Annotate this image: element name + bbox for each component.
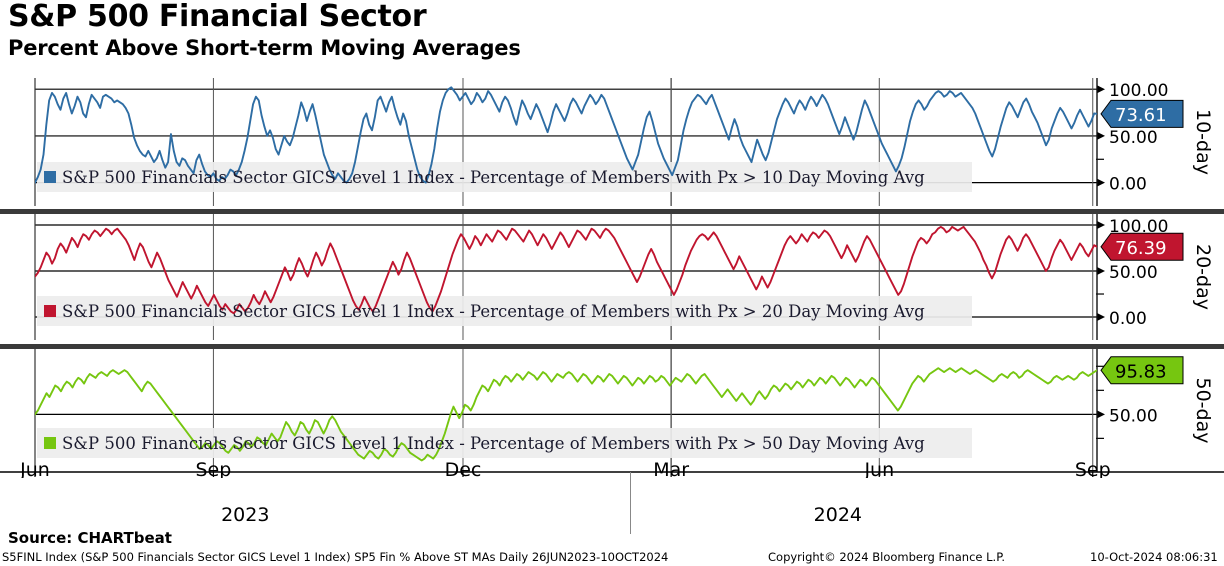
- axis-arrow-20-day-100: [1097, 221, 1105, 229]
- value-badge-text-50-day: 95.83: [1115, 361, 1167, 382]
- panel-50-day: S&P 500 Financials Sector GICS Level 1 I…: [35, 349, 1214, 472]
- percent-above-ma-chart: S&P 500 Financials Sector GICS Level 1 I…: [0, 76, 1224, 478]
- ytick-label-20-day-0: 0.00: [1109, 309, 1147, 329]
- panel-20-day: S&P 500 Financials Sector GICS Level 1 I…: [35, 214, 1214, 340]
- legend-marker-50-day: [44, 437, 56, 449]
- ytick-label-10-day-0: 0.00: [1109, 175, 1147, 195]
- panel-side-label-20-day: 20-day: [1192, 244, 1214, 310]
- source-label: Source: CHARTbeat: [8, 529, 172, 547]
- ytick-label-10-day-100: 100.00: [1109, 81, 1168, 101]
- value-badge-text-20-day: 76.39: [1115, 238, 1167, 259]
- chart-area: S&P 500 Financials Sector GICS Level 1 I…: [0, 76, 1224, 478]
- legend-label-10-day: S&P 500 Financials Sector GICS Level 1 I…: [62, 168, 925, 187]
- panel-side-label-10-day: 10-day: [1192, 109, 1214, 175]
- panel-separator-1: [0, 209, 1224, 214]
- panel-separator-2: [0, 344, 1224, 349]
- value-badge-text-10-day: 73.61: [1115, 105, 1167, 126]
- header: S&P 500 Financial Sector Percent Above S…: [8, 0, 521, 61]
- ytick-label-10-day-50: 50.00: [1109, 128, 1158, 148]
- axis-arrow-10-day-50: [1097, 132, 1105, 140]
- panel-10-day: S&P 500 Financials Sector GICS Level 1 I…: [35, 78, 1214, 206]
- page-subtitle: Percent Above Short-term Moving Averages: [8, 36, 521, 61]
- chart-page: S&P 500 Financial Sector Percent Above S…: [0, 0, 1224, 566]
- legend-label-20-day: S&P 500 Financials Sector GICS Level 1 I…: [62, 302, 925, 321]
- ytick-label-50-day-50: 50.00: [1109, 406, 1158, 426]
- axis-arrow-20-day-50: [1097, 267, 1105, 275]
- year-boundary-line: [630, 472, 631, 534]
- ytick-label-20-day-50: 50.00: [1109, 263, 1158, 283]
- legend-marker-10-day: [44, 171, 56, 183]
- axis-arrow-10-day-100: [1097, 85, 1105, 93]
- panel-side-label-50-day: 50-day: [1192, 378, 1214, 444]
- xtick-label-4: Jun: [863, 459, 894, 478]
- legend-marker-20-day: [44, 305, 56, 317]
- legend-label-50-day: S&P 500 Financials Sector GICS Level 1 I…: [62, 434, 925, 453]
- x-axis-year-label-2024: 2024: [798, 504, 878, 526]
- footer-description: S5FINL Index (S&P 500 Financials Sector …: [2, 550, 668, 564]
- footer-copyright: Copyright© 2024 Bloomberg Finance L.P.: [768, 550, 1005, 564]
- page-title: S&P 500 Financial Sector: [8, 0, 521, 34]
- xtick-label-5: Sep: [1075, 459, 1111, 478]
- axis-arrow-10-day-0: [1097, 179, 1105, 187]
- x-axis-year-label-2023: 2023: [205, 504, 285, 526]
- xtick-label-0: Jun: [19, 459, 50, 478]
- xtick-label-1: Sep: [196, 459, 232, 478]
- axis-arrow-20-day-0: [1097, 313, 1105, 321]
- xtick-label-3: Mar: [653, 459, 689, 478]
- axis-arrow-50-day-50: [1097, 410, 1105, 418]
- footer-timestamp: 10-Oct-2024 08:06:31: [1090, 550, 1218, 564]
- xtick-label-2: Dec: [445, 459, 482, 478]
